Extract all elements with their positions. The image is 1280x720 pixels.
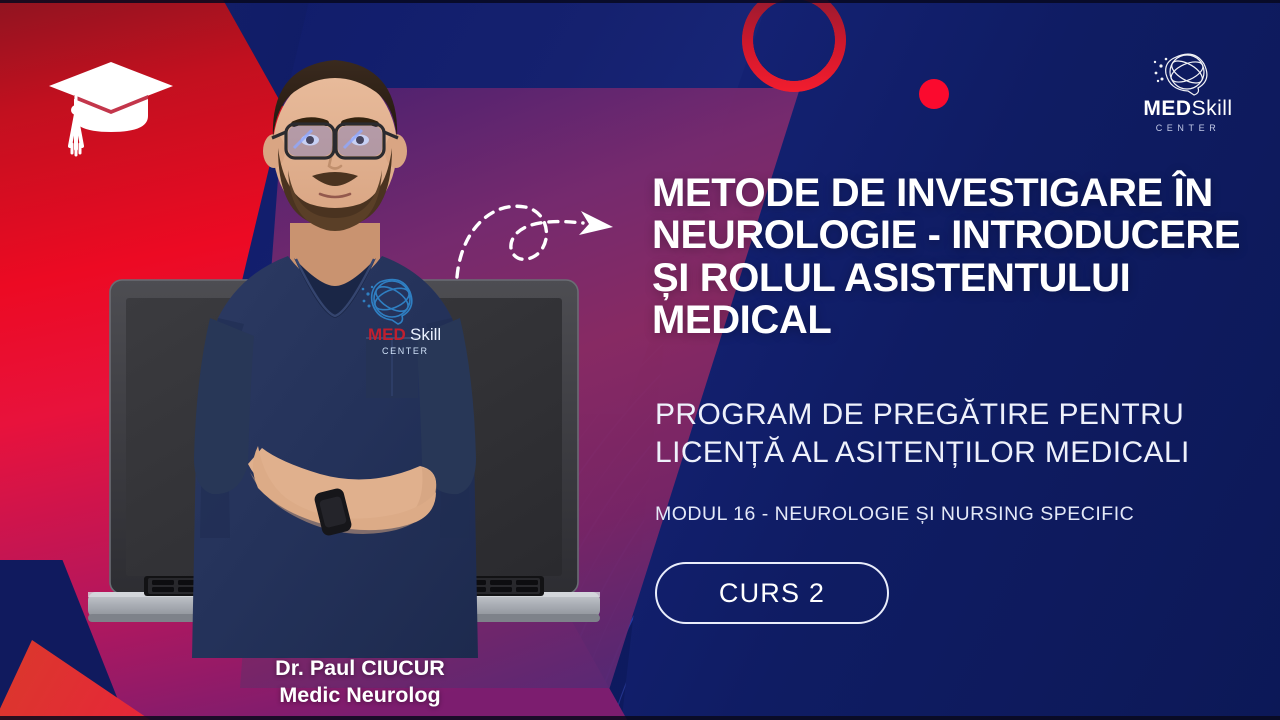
logo-wordmark: MEDSkill <box>1120 98 1256 119</box>
logo-word-skill: Skill <box>1192 97 1233 120</box>
course-badge-label: CURS 2 <box>719 578 825 609</box>
module-label: MODUL 16 - NEUROLOGIE ȘI NURSING SPECIFI… <box>655 503 1255 526</box>
title-line-2: NEUROLOGIE - INTRODUCERE <box>652 214 1272 256</box>
subtitle-line-1: PROGRAM DE PREGĂTIRE PENTRU <box>655 396 1255 434</box>
logo-subtext: CENTER <box>1120 123 1256 133</box>
course-badge[interactable]: CURS 2 <box>655 562 889 624</box>
scrub-logo-skill: Skill <box>410 325 441 344</box>
letterbox-top <box>0 0 1280 3</box>
title-line-1: METODE DE INVESTIGARE ÎN <box>652 172 1272 214</box>
scrub-logo-center: CENTER <box>382 346 429 356</box>
title-line-4: MEDICAL <box>652 299 1272 341</box>
page-title: METODE DE INVESTIGARE ÎN NEUROLOGIE - IN… <box>652 172 1272 342</box>
course-title-slide: MED Skill CENTER MEDSkill CE <box>0 0 1280 720</box>
letterbox-bottom <box>0 716 1280 720</box>
speaker-credit: Dr. Paul CIUCUR Medic Neurolog <box>148 655 572 708</box>
instructor-photo: MED Skill CENTER <box>170 18 500 678</box>
graduation-cap-icon <box>46 50 176 160</box>
speaker-name: Dr. Paul CIUCUR <box>148 655 572 682</box>
page-subtitle: PROGRAM DE PREGĂTIRE PENTRU LICENȚĂ AL A… <box>655 396 1255 473</box>
logo-word-med: MED <box>1143 97 1191 120</box>
speaker-role: Medic Neurolog <box>148 682 572 709</box>
subtitle-line-2: LICENȚĂ AL ASITENȚILOR MEDICALI <box>655 434 1255 472</box>
title-line-3: ȘI ROLUL ASISTENTULUI <box>652 257 1272 299</box>
scrub-logo-med: MED <box>368 325 406 344</box>
red-dot-shape <box>919 79 949 109</box>
medskill-logo[interactable]: MEDSkill CENTER <box>1120 48 1256 134</box>
head-network-icon <box>1152 48 1224 96</box>
